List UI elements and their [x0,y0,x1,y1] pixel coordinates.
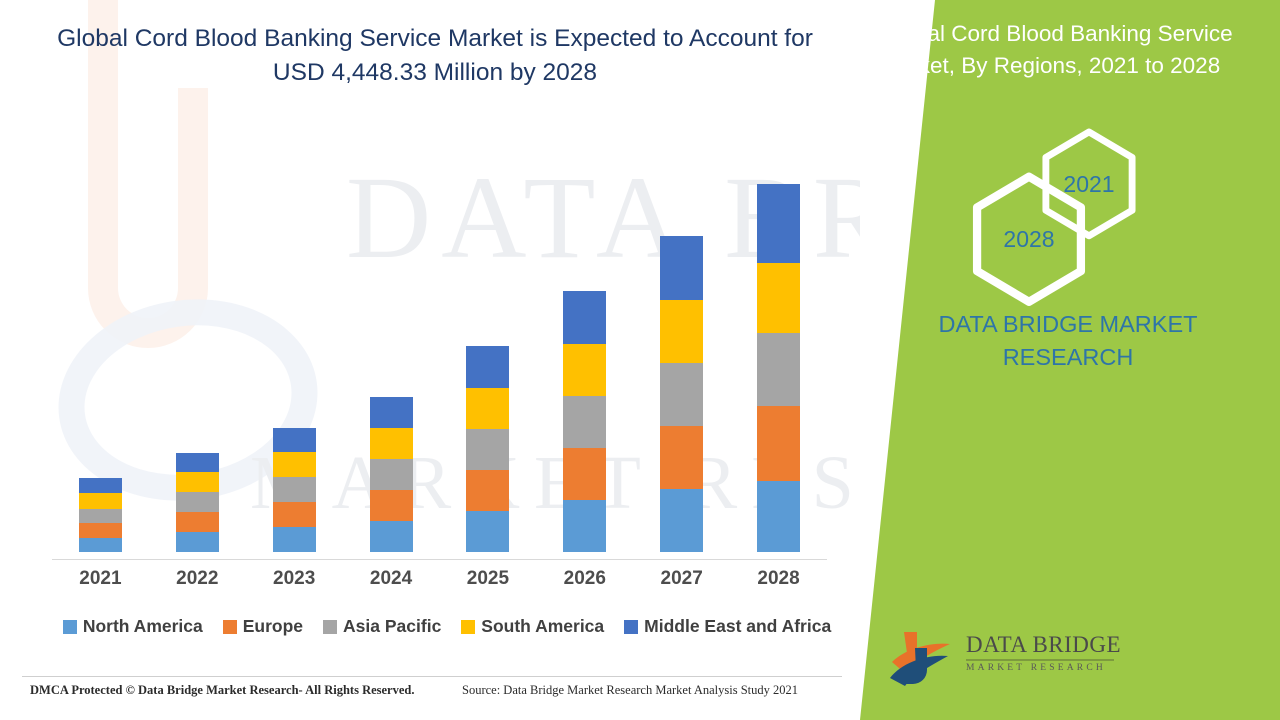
legend-label: South America [481,616,604,637]
x-axis-tick-labels: 20212022202320242025202620272028 [52,568,827,598]
bar-segment-europe [466,470,509,511]
legend-label: Europe [243,616,303,637]
logo-divider [966,659,1114,661]
x-tick-2021: 2021 [60,568,140,590]
bar-segment-middle-east-and-africa [79,478,122,493]
footer-divider [22,676,842,677]
data-bridge-logo-icon [888,628,958,690]
bar-segment-south-america [466,388,509,429]
bar-segment-north-america [757,481,800,552]
source-note: Source: Data Bridge Market Research Mark… [462,683,798,698]
bar-segment-north-america [660,489,703,552]
hexagon-badge-start-year: 2021 [1040,128,1138,240]
panel-title: Global Cord Blood Banking Service Market… [880,18,1270,82]
bar-segment-south-america [660,300,703,363]
bar-2026 [563,291,606,552]
legend-label: Middle East and Africa [644,616,831,637]
bar-segment-europe [79,523,122,538]
hexagon-badges: 2028 2021 [948,128,1158,288]
legend-label: Asia Pacific [343,616,441,637]
logo-text: DATA BRIDGE MARKET RESEARCH [966,632,1126,673]
bar-segment-asia-pacific [757,333,800,406]
bar-segment-europe [176,512,219,532]
bar-segment-south-america [273,452,316,477]
legend-swatch-icon [323,620,337,634]
bar-segment-north-america [176,532,219,552]
bar-segment-north-america [563,500,606,552]
bar-segment-north-america [273,527,316,552]
bar-2027 [660,236,703,552]
bar-segment-asia-pacific [176,492,219,512]
x-tick-2026: 2026 [545,568,625,590]
bar-segment-asia-pacific [273,477,316,502]
bar-segment-europe [563,448,606,500]
dmca-notice: DMCA Protected © Data Bridge Market Rese… [30,683,415,698]
bar-segment-asia-pacific [466,429,509,470]
x-tick-2024: 2024 [351,568,431,590]
logo-name: DATA BRIDGE [966,632,1126,658]
x-tick-2027: 2027 [642,568,722,590]
bar-segment-middle-east-and-africa [563,291,606,344]
legend-item-middle-east-and-africa[interactable]: Middle East and Africa [624,616,831,637]
legend-swatch-icon [63,620,77,634]
bar-segment-asia-pacific [79,509,122,523]
legend-item-asia-pacific[interactable]: Asia Pacific [323,616,441,637]
bar-segment-south-america [176,472,219,492]
bar-segment-south-america [757,263,800,333]
x-axis-line [52,559,827,560]
bar-segment-middle-east-and-africa [176,453,219,472]
panel-brand-name: DATA BRIDGE MARKET RESEARCH [888,308,1248,374]
bar-segment-europe [757,406,800,481]
bar-segment-middle-east-and-africa [370,397,413,428]
bar-segment-europe [273,502,316,527]
bar-segment-south-america [370,428,413,459]
legend-label: North America [83,616,203,637]
x-tick-2025: 2025 [448,568,528,590]
bar-segment-asia-pacific [370,459,413,490]
bar-segment-north-america [466,511,509,552]
x-tick-2023: 2023 [254,568,334,590]
bar-segment-europe [370,490,413,521]
bar-segment-south-america [563,344,606,396]
bar-segment-south-america [79,493,122,509]
bar-2028 [757,184,800,552]
bar-segment-north-america [79,538,122,552]
chart-plot-area [52,120,827,560]
stacked-bar-chart [52,120,827,560]
bar-2023 [273,428,316,552]
bar-segment-middle-east-and-africa [757,184,800,263]
legend-swatch-icon [624,620,638,634]
logo-tagline: MARKET RESEARCH [966,663,1126,673]
legend-item-north-america[interactable]: North America [63,616,203,637]
bar-2025 [466,346,509,552]
legend-swatch-icon [223,620,237,634]
legend-item-south-america[interactable]: South America [461,616,604,637]
legend-item-europe[interactable]: Europe [223,616,303,637]
company-logo: DATA BRIDGE MARKET RESEARCH [888,628,1118,690]
hexagon-start-year-label: 2021 [1063,171,1114,198]
bar-2022 [176,453,219,552]
bar-segment-asia-pacific [660,363,703,426]
bar-segment-europe [660,426,703,489]
bar-segment-asia-pacific [563,396,606,448]
bar-segment-middle-east-and-africa [466,346,509,388]
x-tick-2028: 2028 [739,568,819,590]
page-title: Global Cord Blood Banking Service Market… [40,22,830,90]
legend-swatch-icon [461,620,475,634]
bar-2021 [79,478,122,552]
x-tick-2022: 2022 [157,568,237,590]
bar-2024 [370,397,413,552]
bar-segment-middle-east-and-africa [660,236,703,300]
green-side-panel: Global Cord Blood Banking Service Market… [840,0,1280,720]
chart-legend: North AmericaEuropeAsia PacificSouth Ame… [52,616,842,637]
bar-segment-middle-east-and-africa [273,428,316,452]
bar-segment-north-america [370,521,413,552]
